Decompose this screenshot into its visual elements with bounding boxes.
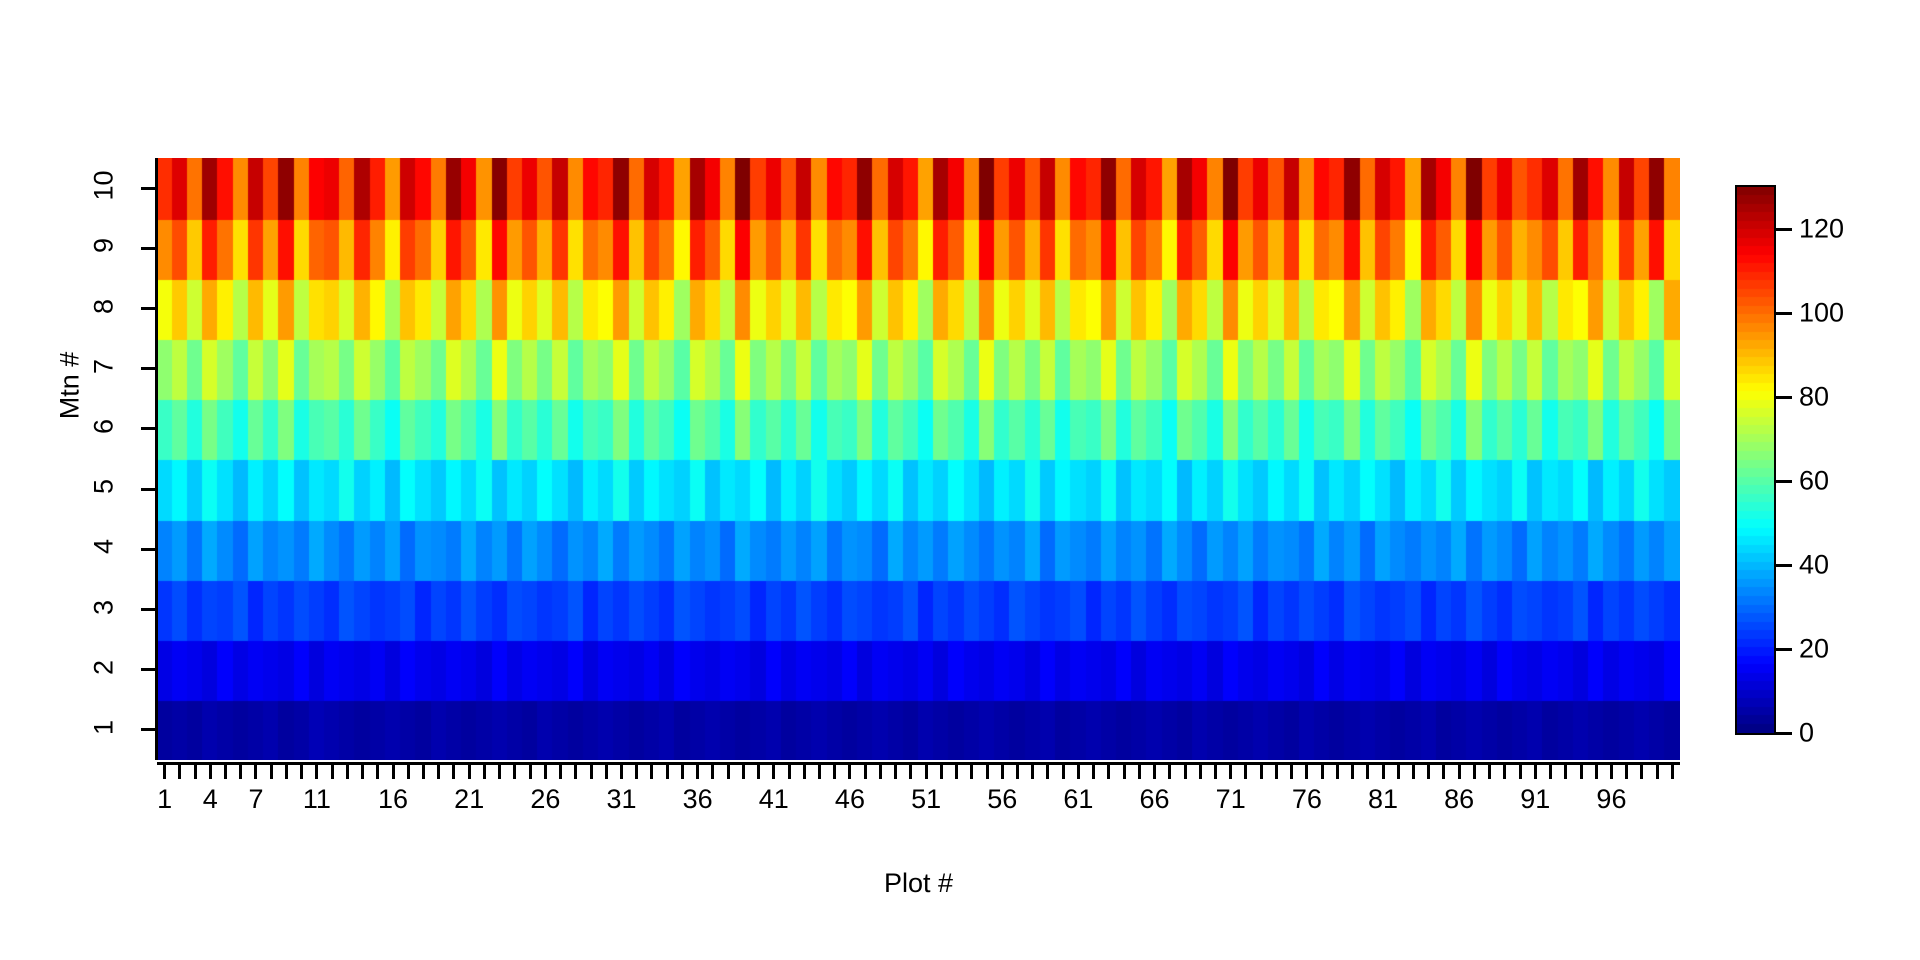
x-axis-tick xyxy=(696,765,699,779)
x-axis-tick xyxy=(224,765,227,779)
x-axis-tick xyxy=(1473,765,1476,779)
x-axis-tick xyxy=(727,765,730,779)
x-axis-tick xyxy=(163,765,166,779)
colorbar-tick xyxy=(1776,732,1792,735)
x-axis-tick xyxy=(1138,765,1141,779)
x-axis-tick xyxy=(437,765,440,779)
x-axis-tick xyxy=(483,765,486,779)
y-axis-tick xyxy=(141,247,155,250)
x-axis-tick xyxy=(590,765,593,779)
x-axis-tick-label: 71 xyxy=(1191,784,1271,815)
x-axis-tick xyxy=(1290,765,1293,779)
x-axis-tick xyxy=(1092,765,1095,779)
colorbar-tick xyxy=(1776,312,1792,315)
x-axis-tick xyxy=(1397,765,1400,779)
x-axis-tick xyxy=(513,765,516,779)
y-axis-tick-label: 8 xyxy=(89,276,120,336)
y-axis-tick xyxy=(141,187,155,190)
x-axis-tick xyxy=(1503,765,1506,779)
x-axis-line xyxy=(157,762,1680,765)
y-axis-tick xyxy=(141,608,155,611)
x-axis-tick xyxy=(422,765,425,779)
heatmap-plot-area xyxy=(157,158,1680,760)
x-axis-tick-label: 51 xyxy=(886,784,966,815)
x-axis-tick xyxy=(1275,765,1278,779)
x-axis-tick xyxy=(1062,765,1065,779)
colorbar-tick xyxy=(1776,564,1792,567)
colorbar-tick xyxy=(1776,396,1792,399)
x-axis-tick-label: 56 xyxy=(962,784,1042,815)
x-axis-tick xyxy=(650,765,653,779)
x-axis-tick xyxy=(1244,765,1247,779)
x-axis-tick-label: 86 xyxy=(1419,784,1499,815)
x-axis-tick xyxy=(1107,765,1110,779)
x-axis-tick xyxy=(1077,765,1080,779)
x-axis: 147111621263136414651566166717681869196 xyxy=(157,760,1680,761)
x-axis-tick xyxy=(925,765,928,779)
x-axis-tick xyxy=(239,765,242,779)
x-axis-tick-label: 76 xyxy=(1267,784,1347,815)
x-axis-tick xyxy=(909,765,912,779)
x-axis-tick xyxy=(194,765,197,779)
x-axis-tick xyxy=(1382,765,1385,779)
x-axis-tick xyxy=(1625,765,1628,779)
y-axis-tick-label: 3 xyxy=(89,577,120,637)
x-axis-tick xyxy=(1671,765,1674,779)
x-axis-tick xyxy=(529,765,532,779)
y-axis-tick xyxy=(141,367,155,370)
x-axis-tick xyxy=(986,765,989,779)
x-axis-tick xyxy=(1412,765,1415,779)
x-axis-tick xyxy=(1016,765,1019,779)
colorbar-tick-label: 40 xyxy=(1799,550,1829,581)
x-axis-tick xyxy=(848,765,851,779)
x-axis-tick-label: 61 xyxy=(1038,784,1118,815)
y-axis-tick-label: 9 xyxy=(89,216,120,276)
y-axis-tick-label: 10 xyxy=(89,156,120,216)
x-axis-tick-label: 36 xyxy=(658,784,738,815)
y-axis-title: Mtn # xyxy=(55,316,86,456)
x-axis-tick xyxy=(574,765,577,779)
x-axis-tick xyxy=(285,765,288,779)
x-axis-tick xyxy=(1610,765,1613,779)
y-axis-tick-label: 1 xyxy=(89,697,120,757)
x-axis-tick xyxy=(392,765,395,779)
figure-canvas: 12345678910 Mtn # 1471116212631364146515… xyxy=(0,0,1920,960)
colorbar-gradient xyxy=(1737,187,1774,733)
x-axis-tick xyxy=(468,765,471,779)
x-axis-tick xyxy=(757,765,760,779)
x-axis-tick xyxy=(331,765,334,779)
x-axis-tick xyxy=(1564,765,1567,779)
x-axis-tick-label: 31 xyxy=(582,784,662,815)
x-axis-tick xyxy=(254,765,257,779)
x-axis-tick xyxy=(1168,765,1171,779)
x-axis-tick xyxy=(346,765,349,779)
x-axis-tick xyxy=(1153,765,1156,779)
y-axis-tick-label: 4 xyxy=(89,517,120,577)
x-axis-tick-label: 21 xyxy=(429,784,509,815)
x-axis-tick xyxy=(1458,765,1461,779)
y-axis: 12345678910 xyxy=(157,158,158,760)
heatmap-image xyxy=(157,158,1680,760)
colorbar-tick-label: 60 xyxy=(1799,466,1829,497)
x-axis-tick xyxy=(1640,765,1643,779)
x-axis-tick xyxy=(1336,765,1339,779)
x-axis-tick xyxy=(970,765,973,779)
x-axis-tick xyxy=(1199,765,1202,779)
x-axis-tick xyxy=(955,765,958,779)
y-axis-tick xyxy=(141,307,155,310)
colorbar-tick-label: 80 xyxy=(1799,382,1829,413)
colorbar-tick-label: 100 xyxy=(1799,298,1844,329)
x-axis-tick xyxy=(803,765,806,779)
colorbar-legend: 020406080100120 xyxy=(1737,187,1917,733)
x-axis-title: Plot # xyxy=(157,868,1680,899)
x-axis-tick xyxy=(361,765,364,779)
colorbar-tick xyxy=(1776,648,1792,651)
x-axis-tick xyxy=(1351,765,1354,779)
x-axis-tick xyxy=(1595,765,1598,779)
x-axis-tick-label: 41 xyxy=(734,784,814,815)
x-axis-tick xyxy=(1580,765,1583,779)
x-axis-tick xyxy=(1260,765,1263,779)
x-axis-tick xyxy=(1321,765,1324,779)
x-axis-tick xyxy=(940,765,943,779)
x-axis-tick xyxy=(1656,765,1659,779)
x-axis-tick xyxy=(1001,765,1004,779)
x-axis-tick xyxy=(894,765,897,779)
y-axis-tick xyxy=(141,548,155,551)
y-axis-tick xyxy=(141,488,155,491)
y-axis-tick-label: 6 xyxy=(89,396,120,456)
y-axis-tick-label: 7 xyxy=(89,336,120,396)
x-axis-tick xyxy=(1123,765,1126,779)
y-axis-tick xyxy=(141,668,155,671)
x-axis-tick xyxy=(879,765,882,779)
y-axis-tick xyxy=(141,728,155,731)
x-axis-tick xyxy=(635,765,638,779)
x-axis-tick xyxy=(559,765,562,779)
x-axis-tick xyxy=(788,765,791,779)
x-axis-tick xyxy=(209,765,212,779)
x-axis-tick-label: 66 xyxy=(1115,784,1195,815)
colorbar-tick xyxy=(1776,480,1792,483)
x-axis-tick xyxy=(1366,765,1369,779)
x-axis-tick xyxy=(666,765,669,779)
y-axis-tick-label: 5 xyxy=(89,457,120,517)
x-axis-tick xyxy=(1214,765,1217,779)
colorbar-tick xyxy=(1776,228,1792,231)
x-axis-tick xyxy=(1442,765,1445,779)
x-axis-tick-label: 26 xyxy=(505,784,585,815)
x-axis-tick xyxy=(544,765,547,779)
x-axis-tick-label: 46 xyxy=(810,784,890,815)
x-axis-tick xyxy=(772,765,775,779)
x-axis-tick-label: 96 xyxy=(1571,784,1651,815)
x-axis-tick xyxy=(742,765,745,779)
x-axis-tick xyxy=(376,765,379,779)
x-axis-tick xyxy=(818,765,821,779)
x-axis-tick-label: 91 xyxy=(1495,784,1575,815)
x-axis-tick xyxy=(315,765,318,779)
x-axis-tick xyxy=(1488,765,1491,779)
x-axis-tick xyxy=(1184,765,1187,779)
x-axis-tick xyxy=(1229,765,1232,779)
x-axis-tick xyxy=(270,765,273,779)
x-axis-tick xyxy=(605,765,608,779)
x-axis-tick xyxy=(498,765,501,779)
x-axis-tick xyxy=(407,765,410,779)
x-axis-tick xyxy=(681,765,684,779)
x-axis-tick xyxy=(1427,765,1430,779)
x-axis-tick xyxy=(833,765,836,779)
colorbar-tick-label: 20 xyxy=(1799,634,1829,665)
y-axis-line xyxy=(155,158,158,760)
x-axis-tick xyxy=(452,765,455,779)
x-axis-tick xyxy=(1519,765,1522,779)
colorbar-tick-label: 0 xyxy=(1799,718,1814,749)
y-axis-tick xyxy=(141,427,155,430)
x-axis-tick xyxy=(1031,765,1034,779)
x-axis-tick-label: 16 xyxy=(353,784,433,815)
colorbar-tick-label: 120 xyxy=(1799,214,1844,245)
y-axis-tick-label: 2 xyxy=(89,637,120,697)
x-axis-tick xyxy=(300,765,303,779)
x-axis-tick-label: 81 xyxy=(1343,784,1423,815)
x-axis-tick xyxy=(711,765,714,779)
x-axis-tick xyxy=(1046,765,1049,779)
x-axis-tick xyxy=(178,765,181,779)
x-axis-tick xyxy=(1534,765,1537,779)
x-axis-tick xyxy=(620,765,623,779)
x-axis-tick xyxy=(1305,765,1308,779)
x-axis-tick xyxy=(1549,765,1552,779)
x-axis-tick-label: 11 xyxy=(277,784,357,815)
x-axis-tick xyxy=(864,765,867,779)
